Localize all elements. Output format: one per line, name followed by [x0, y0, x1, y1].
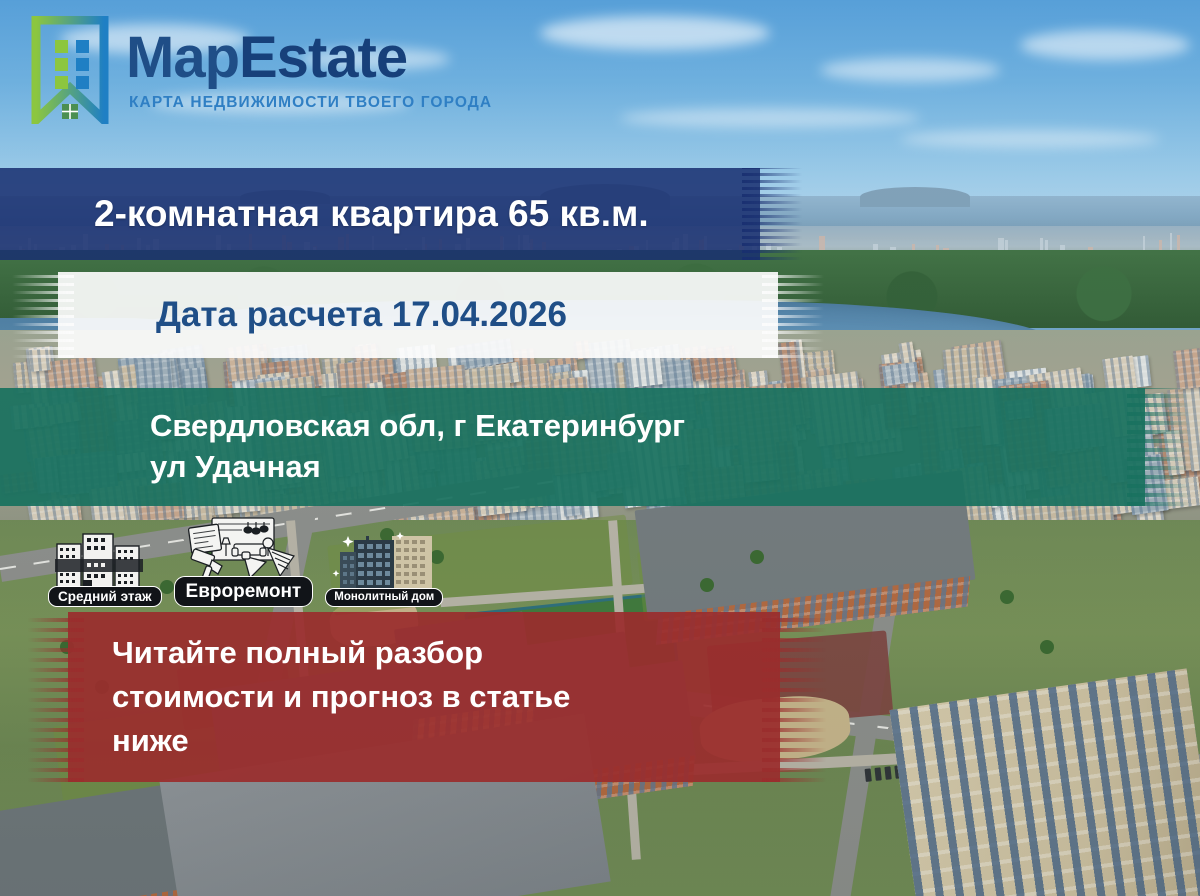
brand-title-map: Map	[126, 25, 239, 90]
cta-line-1: Читайте полный разбор	[112, 631, 483, 675]
cta-line-3: ниже	[112, 719, 189, 763]
brand-tagline: КАРТА НЕДВИЖИМОСТИ ТВОЕГО ГОРОДА	[129, 94, 492, 112]
badge-label: Монолитный дом	[325, 588, 443, 608]
address-line-2: ул Удачная	[150, 447, 321, 488]
cloud	[620, 108, 920, 128]
badge-monolithic-house[interactable]: Монолитный дом	[325, 530, 443, 608]
feature-badges: Средний этаж	[48, 512, 443, 607]
renovation-tools-icon	[182, 512, 304, 582]
bookmark-building-icon	[28, 16, 112, 124]
brand-logo[interactable]: MapEstate КАРТА НЕДВИЖИМОСТИ ТВОЕГО ГОРО…	[28, 16, 492, 124]
calculation-date: Дата расчета 17.04.2026	[156, 295, 567, 335]
foreground-tower	[890, 668, 1200, 896]
cta-line-2: стоимости и прогноз в статье	[112, 675, 570, 719]
banner-call-to-action: Читайте полный разбор стоимости и прогно…	[68, 612, 780, 782]
monolithic-tower-icon	[332, 530, 436, 594]
cloud	[820, 58, 1000, 82]
badge-label: Средний этаж	[48, 586, 162, 608]
badge-euro-renovation[interactable]: Евроремонт	[174, 512, 314, 607]
cloud	[1020, 30, 1190, 60]
cloud	[540, 16, 770, 50]
brand-title: MapEstate	[126, 29, 492, 87]
promo-image: MapEstate КАРТА НЕДВИЖИМОСТИ ТВОЕГО ГОРО…	[0, 0, 1200, 896]
property-title: 2-комнатная квартира 65 кв.м.	[94, 193, 649, 235]
cloud	[900, 130, 1160, 148]
banner-property: 2-комнатная квартира 65 кв.м.	[0, 168, 760, 260]
brand-title-estate: Estate	[239, 25, 407, 90]
apartment-buildings-icon	[53, 528, 157, 592]
banner-date: Дата расчета 17.04.2026	[58, 272, 778, 358]
address-line-1: Свердловская обл, г Екатеринбург	[150, 406, 685, 447]
badge-middle-floor[interactable]: Средний этаж	[48, 528, 162, 608]
badge-label: Евроремонт	[174, 576, 314, 607]
banner-address: Свердловская обл, г Екатеринбург ул Удач…	[0, 388, 1145, 506]
brand-wordmark: MapEstate КАРТА НЕДВИЖИМОСТИ ТВОЕГО ГОРО…	[126, 29, 492, 112]
